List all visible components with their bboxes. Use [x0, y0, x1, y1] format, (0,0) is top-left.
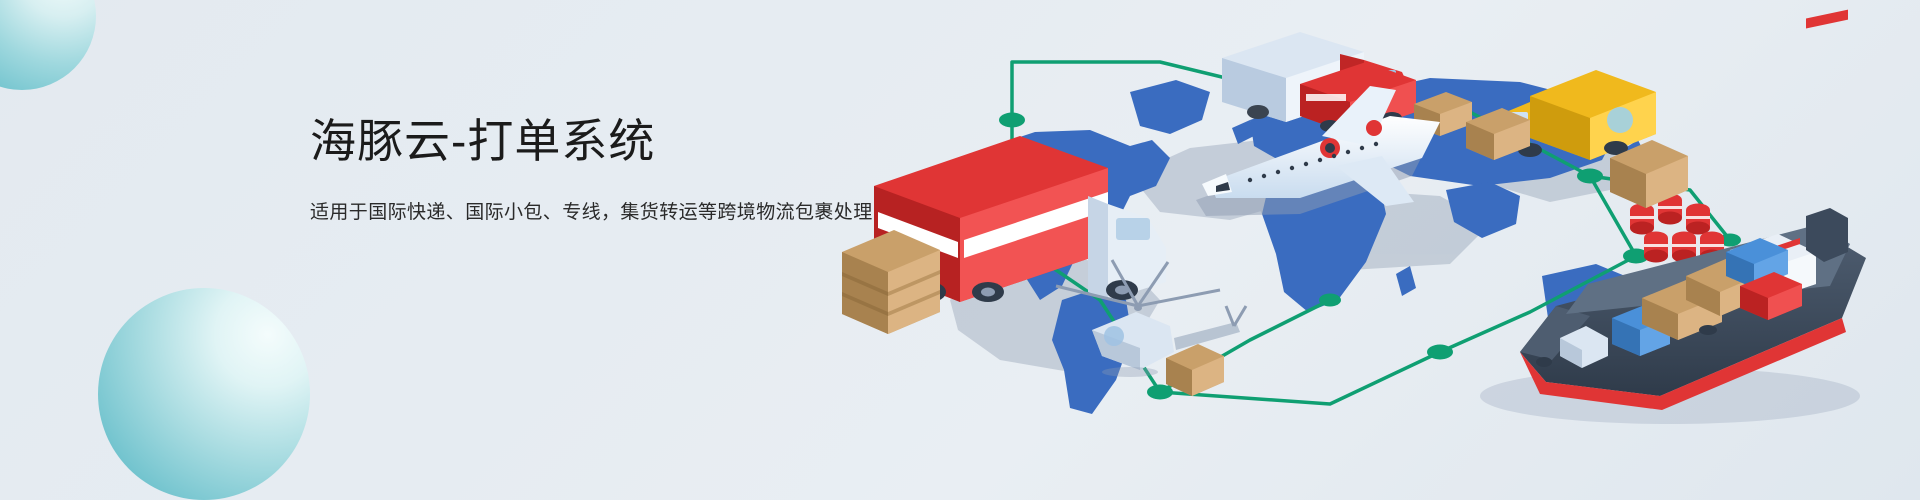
teal-gradient-circle-top-left [0, 0, 96, 90]
network-node [1427, 345, 1453, 360]
page-subtitle: 适用于国际快递、国际小包、专线，集货转运等跨境物流包裹处理 [310, 198, 970, 228]
map-island-madagascar [1396, 266, 1416, 296]
banner-text-block: 海豚云-打单系统 适用于国际快递、国际小包、专线，集货转运等跨境物流包裹处理 [310, 110, 970, 228]
map-greenland [1130, 80, 1210, 134]
network-node [1319, 294, 1341, 307]
illustration-svg [830, 0, 1920, 500]
map-island-uk [1232, 120, 1254, 144]
cargo-boxes-helicopter [1166, 344, 1224, 396]
global-logistics-illustration [830, 0, 1920, 500]
network-node [1147, 385, 1173, 400]
network-node [1577, 169, 1603, 184]
network-node [999, 113, 1025, 128]
teal-gradient-circle-bottom-left [98, 288, 310, 500]
hero-banner: 海豚云-打单系统 适用于国际快递、国际小包、专线，集货转运等跨境物流包裹处理 [0, 0, 1920, 500]
page-title: 海豚云-打单系统 [310, 110, 970, 172]
cargo-boxes-semi [842, 230, 940, 334]
